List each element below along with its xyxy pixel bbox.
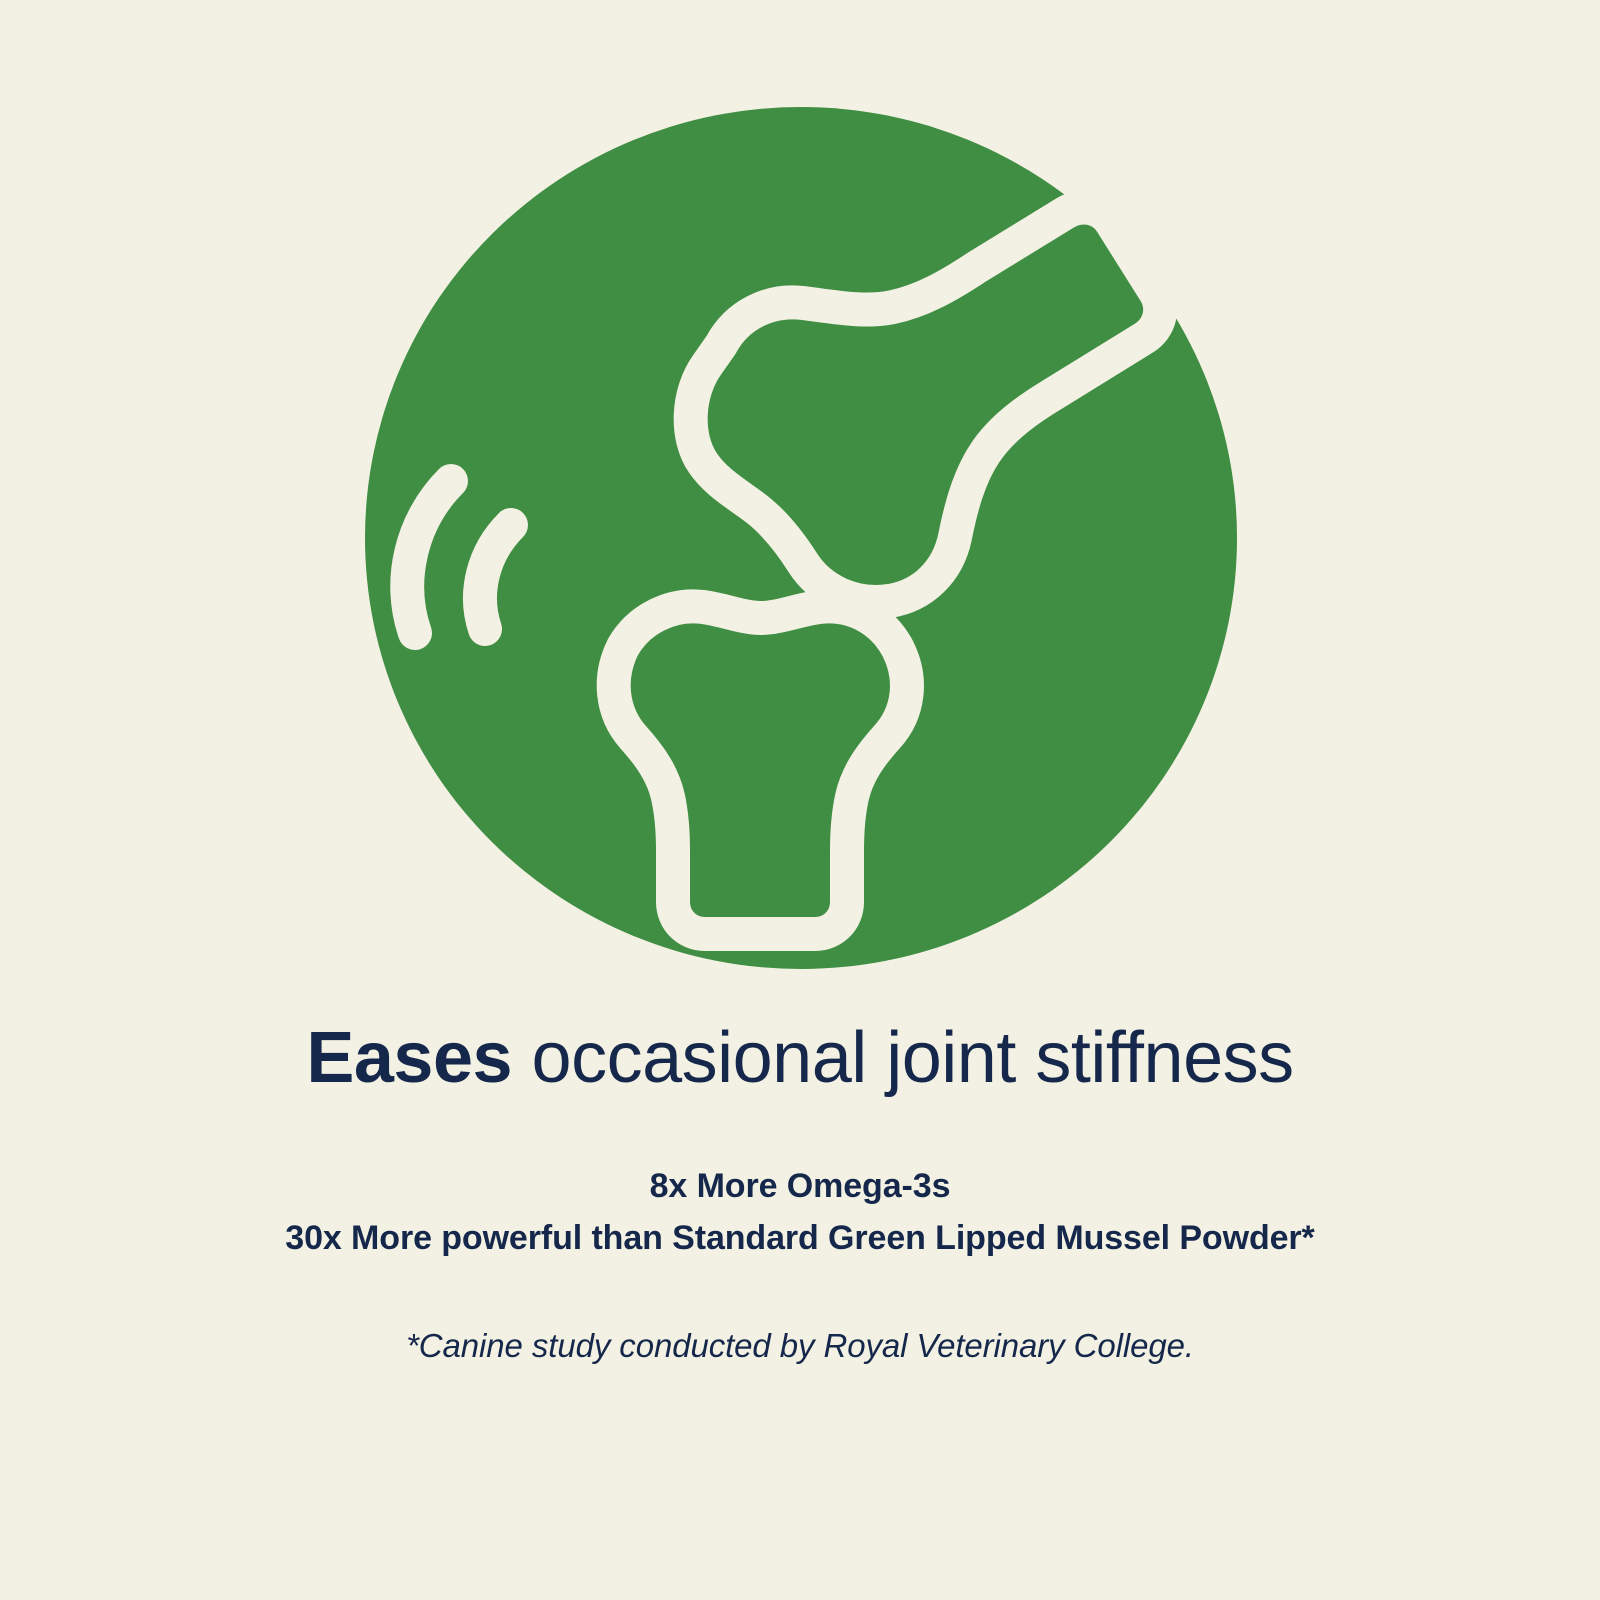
joint-stiffness-icon — [365, 107, 1237, 969]
motion-wave-arc-outer — [407, 481, 451, 633]
claims-list: 8x More Omega-3s 30x More powerful than … — [0, 1098, 1600, 1265]
footnote: *Canine study conducted by Royal Veterin… — [0, 1265, 1600, 1365]
claim-potency: 30x More powerful than Standard Green Li… — [0, 1212, 1600, 1265]
claim-omega: 8x More Omega-3s — [0, 1160, 1600, 1213]
headline-emphasis: Eases — [306, 1018, 512, 1098]
page-title: Eases occasional joint stiffness — [0, 1020, 1600, 1098]
icon-badge — [365, 107, 1237, 969]
lower-bone-tibia — [614, 606, 907, 934]
motion-wave-arc-inner — [480, 525, 511, 629]
headline-rest: occasional joint stiffness — [512, 1018, 1294, 1098]
benefit-card: Eases occasional joint stiffness 8x More… — [0, 0, 1600, 1600]
text-block: Eases occasional joint stiffness 8x More… — [0, 1020, 1600, 1365]
upper-bone-femur — [691, 207, 1160, 601]
